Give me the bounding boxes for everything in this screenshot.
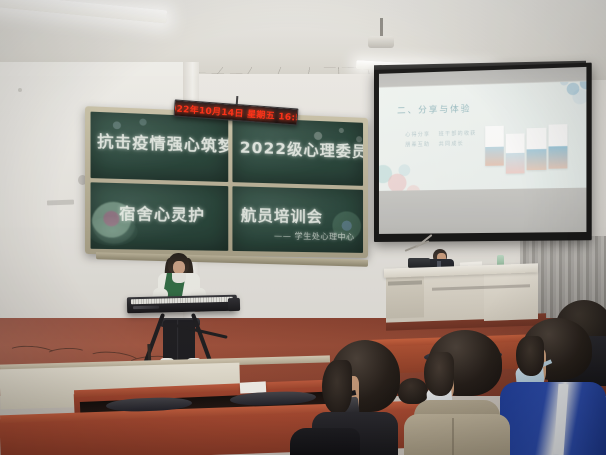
chalk-lotus-decor (92, 201, 136, 244)
student-middle-hoodie (404, 414, 510, 455)
chalk-text-bottom-left: 宿舍心灵护 (119, 202, 205, 226)
chalk-text-top-right: 2022级心理委员 (240, 136, 363, 162)
classroom-photo-scene: 二、分享与体验 心得分享 班干部的收获 朋辈互助 共同成长 抗击疫情强心筑梦 (0, 0, 606, 455)
wall-mark (47, 200, 74, 206)
student-middle-hair-front (424, 352, 454, 396)
student-right-jacket (500, 382, 606, 455)
chalk-signature: —— 学生处心理中心 (274, 230, 355, 243)
chalk-flower-decor (328, 209, 362, 246)
electronic-keyboard (127, 295, 237, 314)
chalkboard-panel-bottom-right: 航员培训会 —— 学生处心理中心 (232, 186, 363, 253)
chalkboard-row-bottom: 宿舍心灵护 航员培训会 —— 学生处心理中心 (91, 182, 364, 253)
chalk-leaf-decor (91, 216, 138, 246)
student-foreground-shoulder (290, 428, 360, 455)
slide-thumbnail (548, 125, 567, 170)
chalk-text-bottom-right: 航员培训会 (241, 204, 323, 227)
projection-screen: 二、分享与体验 心得分享 班干部的收获 朋辈互助 共同成长 (374, 63, 592, 242)
slide-thumbnail (527, 128, 546, 170)
slide-thumbnail (485, 126, 504, 166)
chalk-sparkle-decor (97, 114, 162, 137)
student-right-hair-front (516, 336, 544, 376)
slide-floral-decor-bottom (379, 146, 456, 191)
keyboard-control-panel (133, 306, 159, 310)
projector-icon (368, 36, 394, 48)
chalkboard-panels: 抗击疫情强心筑梦 2022级心理委员 宿舍心灵护 航员培 (91, 112, 364, 253)
chalk-text-top-left: 抗击疫情强心筑梦 (97, 130, 228, 157)
presentation-slide: 二、分享与体验 心得分享 班干部的收获 朋辈互助 共同成长 (379, 82, 586, 191)
chalkboard-panel-top-left: 抗击疫情强心筑梦 (91, 112, 229, 182)
chalk-sparkle-decor (305, 124, 363, 145)
slide-title: 二、分享与体验 (397, 102, 471, 116)
slide-body-text: 心得分享 班干部的收获 朋辈互助 共同成长 (405, 130, 476, 151)
keyboard-right-end (228, 298, 240, 311)
chalkboard-panel-top-right: 2022级心理委员 (232, 117, 363, 185)
chalkboard: 抗击疫情强心筑梦 2022级心理委员 宿舍心灵护 航员培 (85, 106, 368, 258)
chalkboard-row-top: 抗击疫情强心筑梦 2022级心理委员 (91, 112, 364, 186)
keyboard-keys (131, 297, 233, 304)
chalkboard-panel-bottom-left: 宿舍心灵护 (91, 182, 229, 251)
slide-floral-decor-top (523, 82, 587, 122)
screen-canvas: 二、分享与体验 心得分享 班干部的收获 朋辈互助 共同成长 (379, 67, 586, 234)
student-left-hair-front (322, 360, 352, 414)
podium-side-cabinet (484, 271, 538, 321)
slide-thumbnail (506, 133, 525, 174)
performer-collar (172, 273, 186, 283)
chalkboard-frame: 抗击疫情强心筑梦 2022级心理委员 宿舍心灵护 航员培 (85, 106, 368, 258)
wall-speck (18, 88, 22, 92)
student-middle-hoodie-seam (452, 418, 454, 455)
podium-left-cabinet (386, 271, 424, 318)
projector-mount-rod (380, 18, 383, 38)
